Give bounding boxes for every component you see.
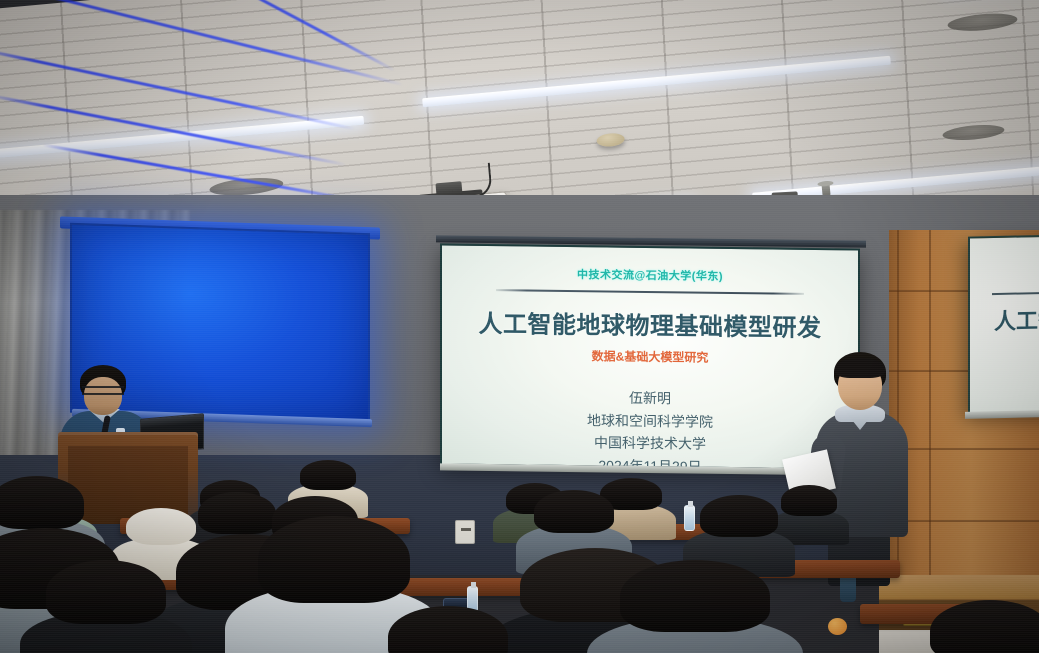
audience-member [700,495,778,563]
audience-member-front [930,600,1039,653]
presentation-slide: 中技术交流@石油大学(华东) 人工智能地球物理基础模型研发 数据&基础大模型研究… [440,243,860,470]
audience-hair [258,516,410,603]
wall-outlet [455,520,475,544]
audience-hair [534,490,614,533]
audience-hair [781,485,837,516]
audience-member-front [620,560,770,653]
audience-hair [46,560,166,624]
right-screen-surface: 人工智 [968,233,1039,414]
audience-member-front [388,606,508,653]
audience-hair [930,600,1039,653]
projection-screen-right[interactable]: 人工智 [968,233,1039,414]
glasses-icon [82,386,124,395]
orange-fruit [828,618,847,635]
right-slide-divider-rule [992,291,1039,296]
presenter-hair-front [835,358,885,378]
slide-divider-rule [496,289,804,295]
audience-hair [300,460,356,490]
projection-screen-center[interactable]: 中技术交流@石油大学(华东) 人工智能地球物理基础模型研发 数据&基础大模型研究… [440,243,860,470]
podium-person-face [84,377,122,415]
wood-seam [929,230,931,590]
audience-hair [700,495,778,537]
audience-hair [0,476,84,529]
slide-header-text: 中技术交流@石油大学(华东) [442,264,858,285]
audience-hair [620,560,770,632]
slide-subtitle-text: 数据&基础大模型研究 [442,345,858,367]
audience-hair [388,606,508,653]
right-slide-title-text: 人工智 [994,303,1039,336]
audience-member-front [46,560,166,653]
slide-title-text: 人工智能地球物理基础模型研发 [442,303,858,343]
presenter-person [808,352,916,582]
audience-member [781,485,837,535]
water-bottle [684,505,695,531]
lecture-hall-photo: 中技术交流@石油大学(华东) 人工智能地球物理基础模型研发 数据&基础大模型研究… [0,0,1039,653]
